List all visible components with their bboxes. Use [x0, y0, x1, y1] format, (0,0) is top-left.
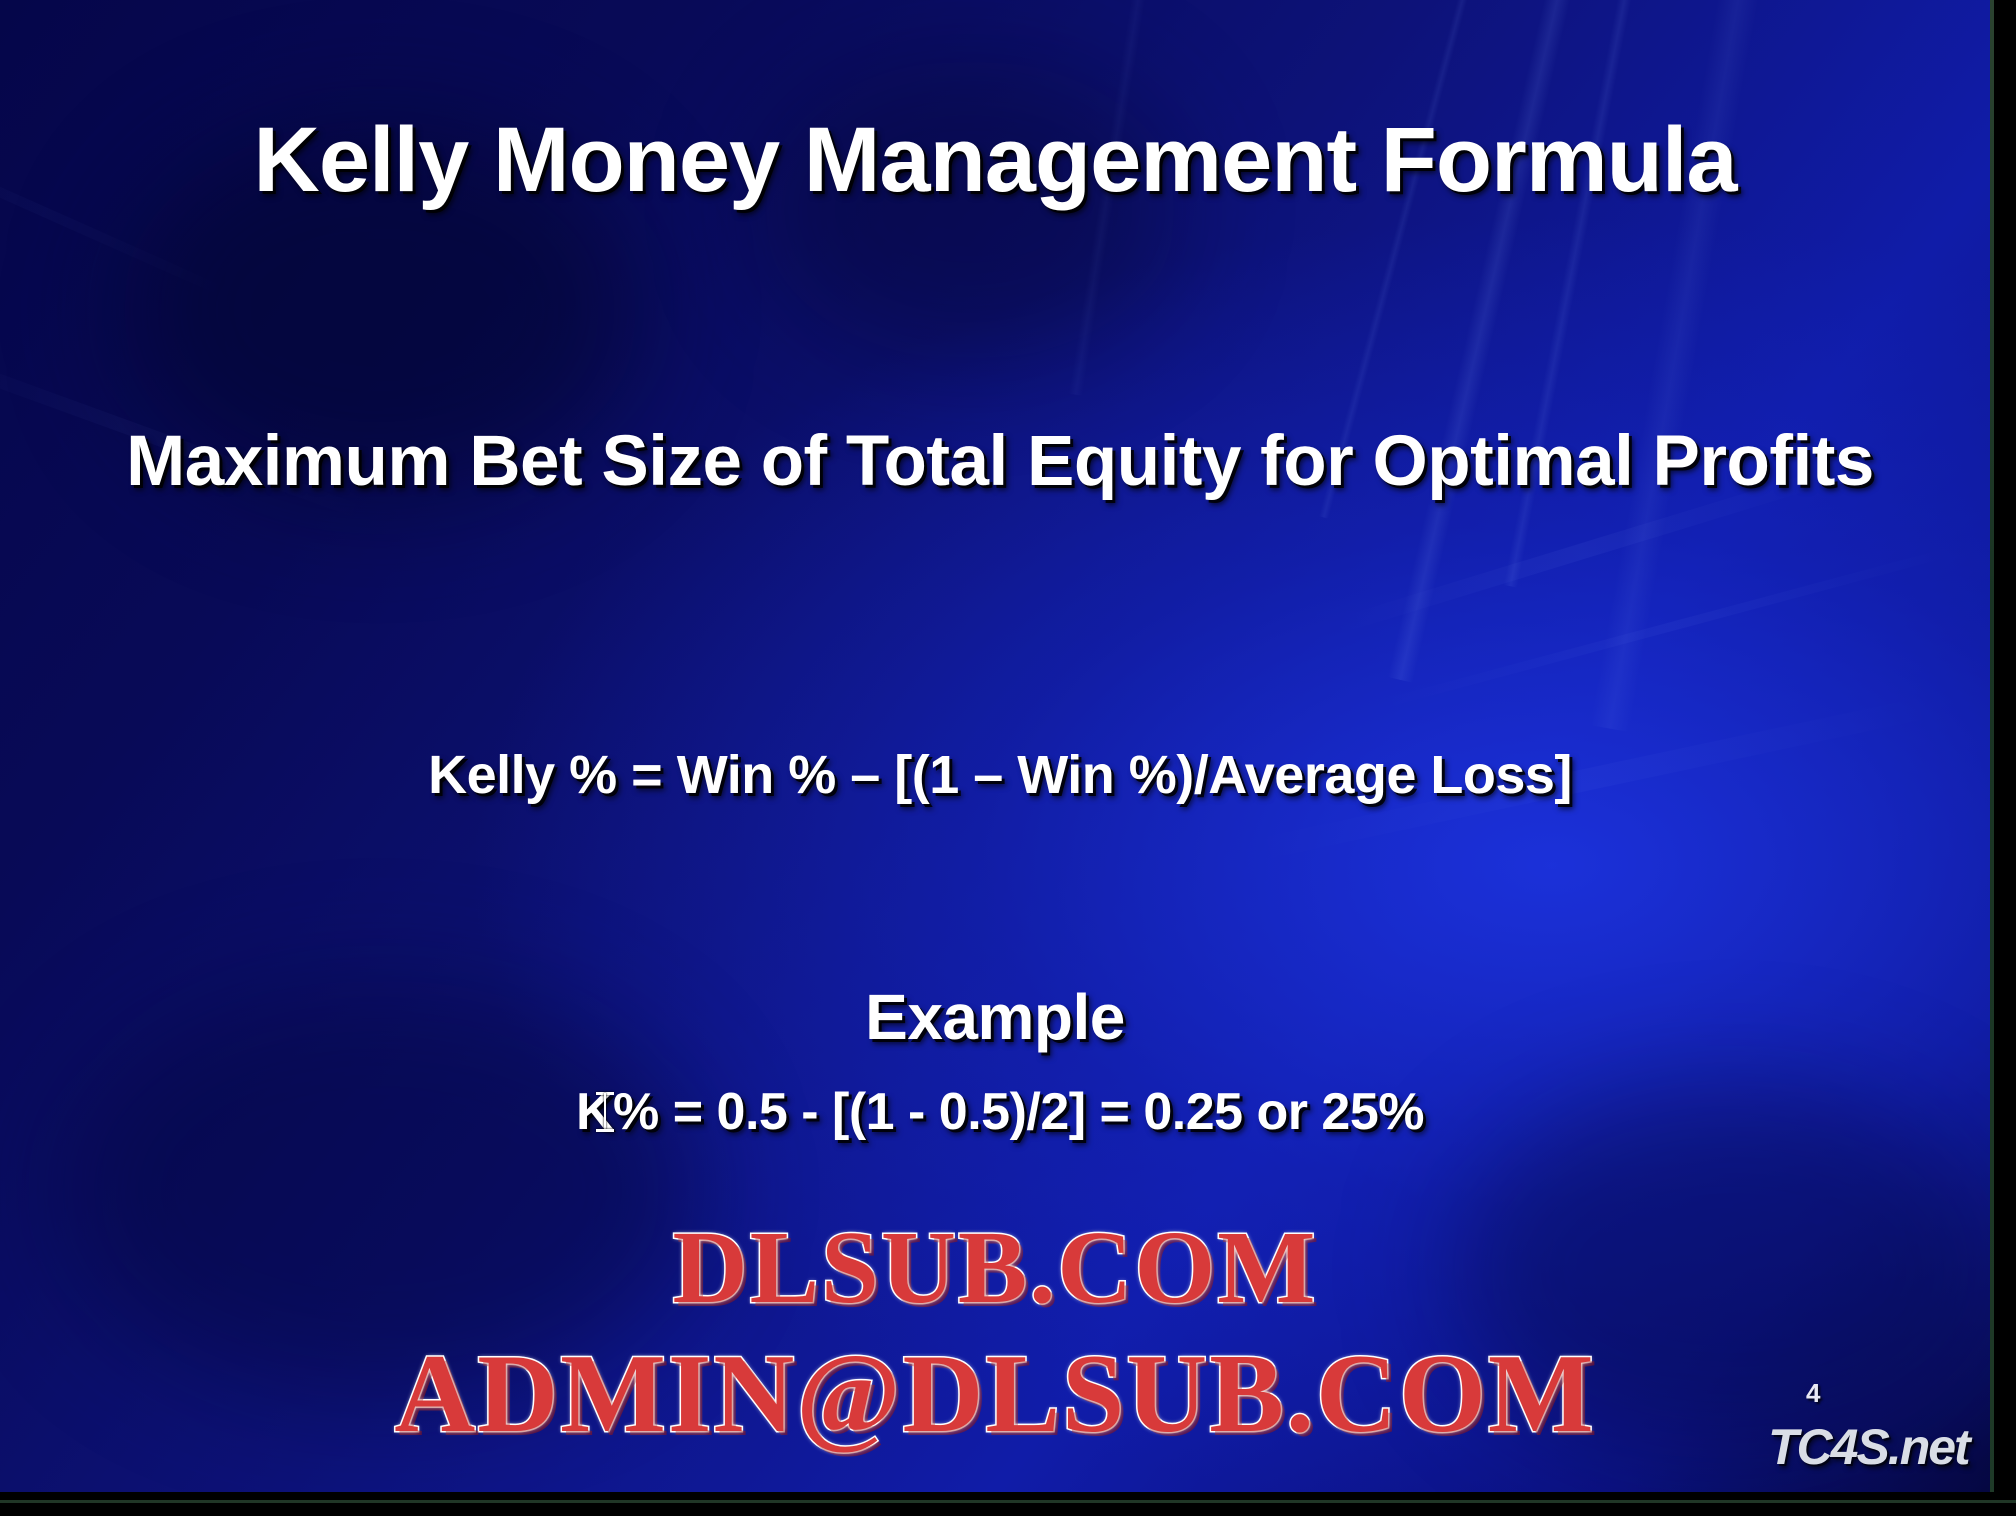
example-heading: Example	[0, 982, 1990, 1052]
light-streak	[1380, 545, 1962, 709]
watermark-site-url: DLSUB.COM	[0, 1208, 1990, 1327]
kelly-formula-text: Kelly % = Win % – [(1 – Win %)/Average L…	[110, 746, 1890, 805]
frame-bottom-edge	[0, 1500, 2016, 1503]
presentation-slide-screenshot: Kelly Money Management Formula Maximum B…	[0, 0, 2016, 1516]
slide-canvas: Kelly Money Management Formula Maximum B…	[0, 0, 1990, 1492]
slide-title: Kelly Money Management Formula	[0, 112, 1990, 209]
slide-subtitle: Maximum Bet Size of Total Equity for Opt…	[110, 420, 1890, 504]
example-calculation-text: K% = 0.5 - [(1 - 0.5)/2] = 0.25 or 25%	[110, 1084, 1890, 1141]
watermark-contact-email: ADMIN@DLSUB.COM	[0, 1330, 1990, 1459]
frame-right-edge	[1990, 0, 1994, 1492]
light-streak	[1388, 0, 1616, 683]
